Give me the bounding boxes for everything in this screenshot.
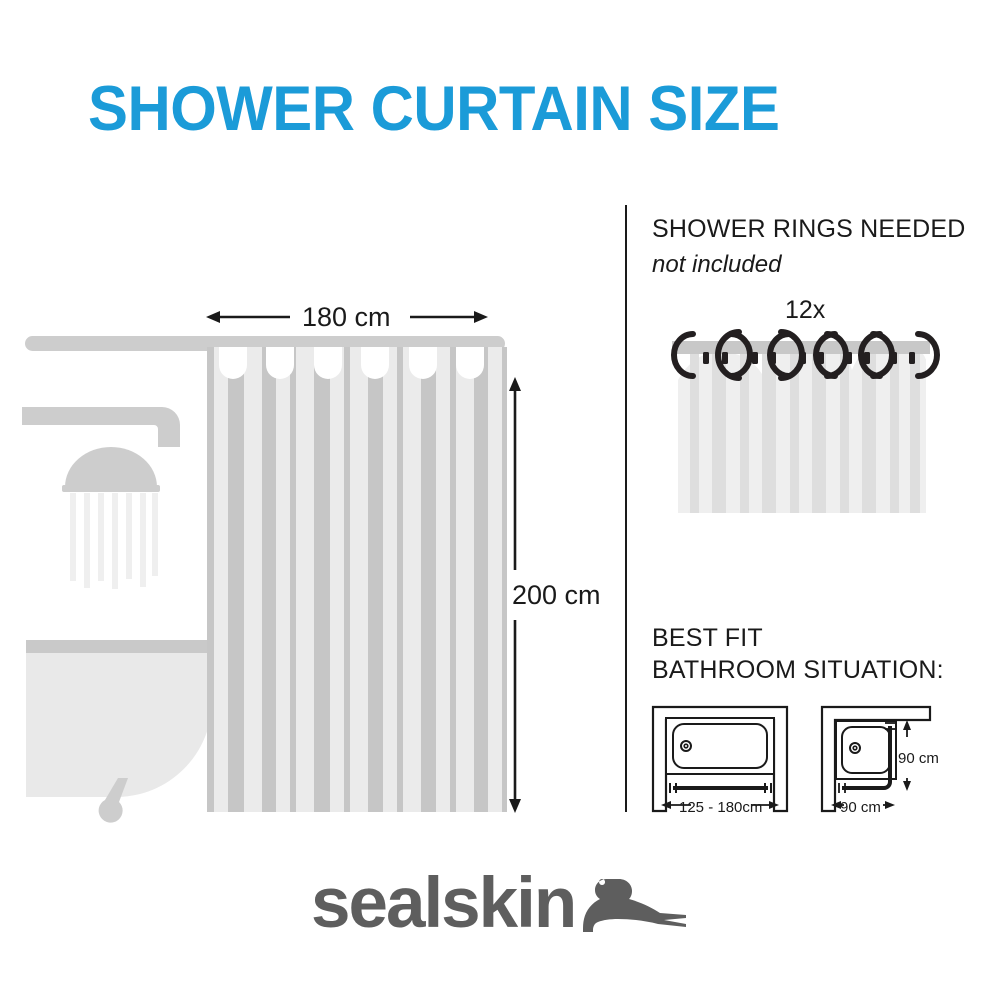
seal-silhouette-icon (577, 871, 687, 933)
shower-curtain (207, 347, 507, 812)
shower-tray-width-label: 90 cm (840, 793, 881, 823)
page-title: SHOWER CURTAIN SIZE (88, 76, 779, 142)
best-fit-heading: BEST FIT BATHROOM SITUATION: (652, 622, 944, 686)
bathtub-illustration (26, 640, 212, 823)
brand-wordmark: sealskin (311, 868, 575, 939)
best-fit-heading-line2: BATHROOM SITUATION: (652, 654, 944, 686)
curtain-width-label: 180 cm (302, 302, 391, 332)
bathtub-width-label: 125 - 180cm (679, 793, 762, 823)
shower-tray-depth-label: 90 cm (898, 744, 939, 774)
curtain-stripes (214, 347, 502, 812)
water-streams (70, 493, 158, 589)
shower-rings-illustration (672, 332, 937, 515)
infographic-canvas: SHOWER CURTAIN SIZE (0, 0, 1000, 1000)
curtain-tab-holes (219, 347, 484, 379)
curtain-height-label: 200 cm (512, 580, 601, 610)
panel-divider (625, 205, 627, 812)
shower-head-fixture (22, 407, 180, 589)
brand-logo: sealskin (311, 868, 687, 939)
shower-rings (674, 332, 937, 378)
shower-ring-hooks (703, 352, 915, 364)
shower-rings-heading: SHOWER RINGS NEEDED (652, 214, 966, 244)
curtain-rod (25, 336, 505, 351)
shower-rings-subheading: not included (652, 250, 781, 279)
bathtub-foot (99, 778, 128, 823)
best-fit-heading-line1: BEST FIT (652, 624, 763, 652)
main-illustration-layer (0, 0, 1000, 1000)
shower-rings-count-label: 12x (785, 296, 825, 324)
